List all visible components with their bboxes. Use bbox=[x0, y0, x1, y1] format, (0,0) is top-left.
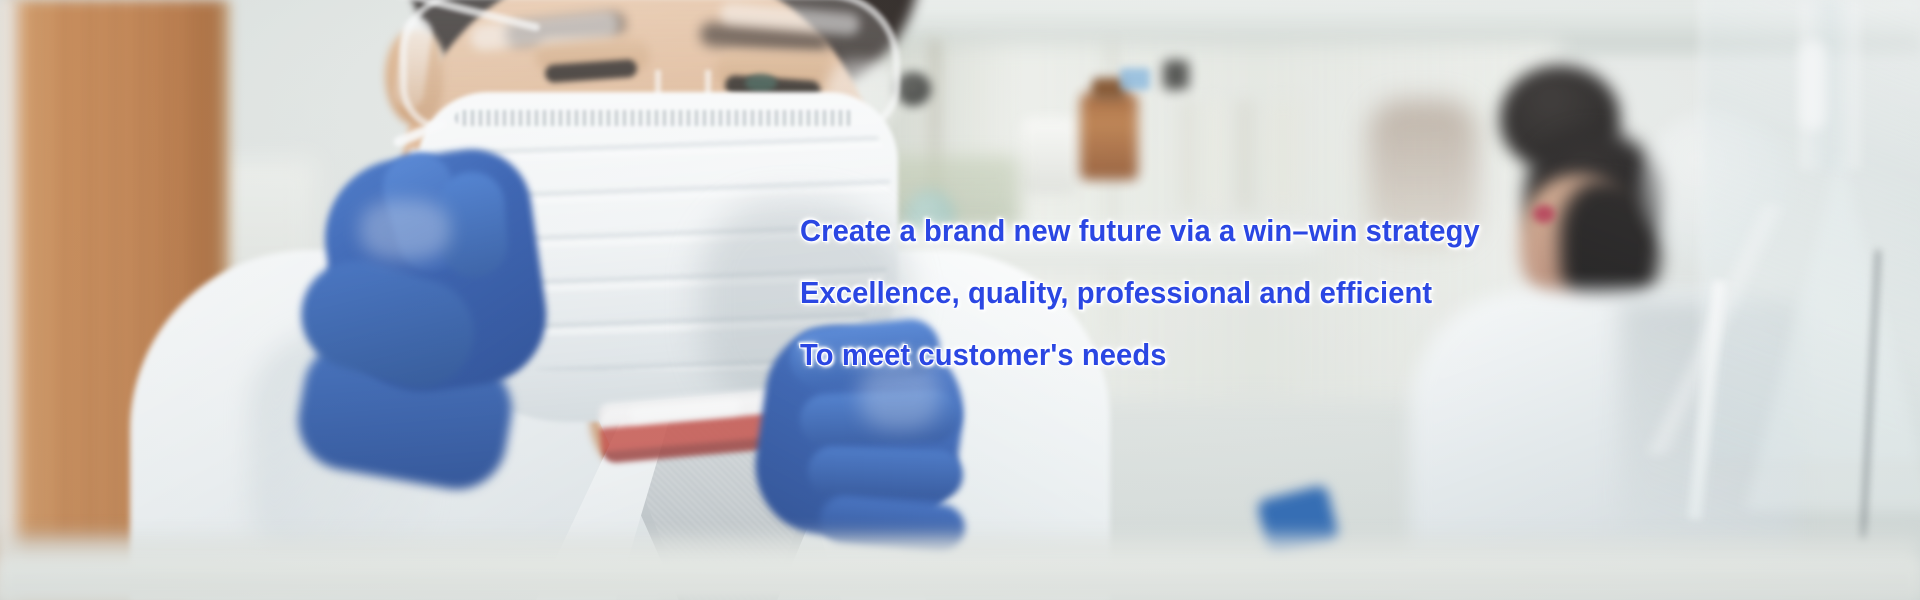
lab-bench-edge bbox=[0, 560, 1920, 600]
dark-jar bbox=[1163, 60, 1189, 90]
glove-left-highlight bbox=[360, 200, 450, 260]
glove-right-finger bbox=[807, 445, 964, 500]
vial-rack bbox=[1180, 100, 1300, 210]
lab-hero-banner: Create a brand new future via a win–win … bbox=[0, 0, 1920, 600]
amber-reagent-bottle bbox=[1080, 92, 1138, 180]
left-edge-highlight bbox=[0, 0, 26, 600]
blue-label bbox=[1120, 68, 1150, 90]
surgical-mask-nose-wire bbox=[455, 110, 855, 126]
white-reagent-bottle bbox=[1022, 118, 1078, 194]
caption-line-1: Create a brand new future via a win–win … bbox=[800, 200, 1702, 262]
glassware-highlight bbox=[1800, 40, 1826, 130]
caption-line-2: Excellence, quality, professional and ef… bbox=[800, 262, 1702, 324]
banner-caption: Create a brand new future via a win–win … bbox=[800, 200, 1760, 386]
caption-line-3: To meet customer's needs bbox=[800, 324, 1702, 386]
dark-jar bbox=[895, 72, 931, 106]
